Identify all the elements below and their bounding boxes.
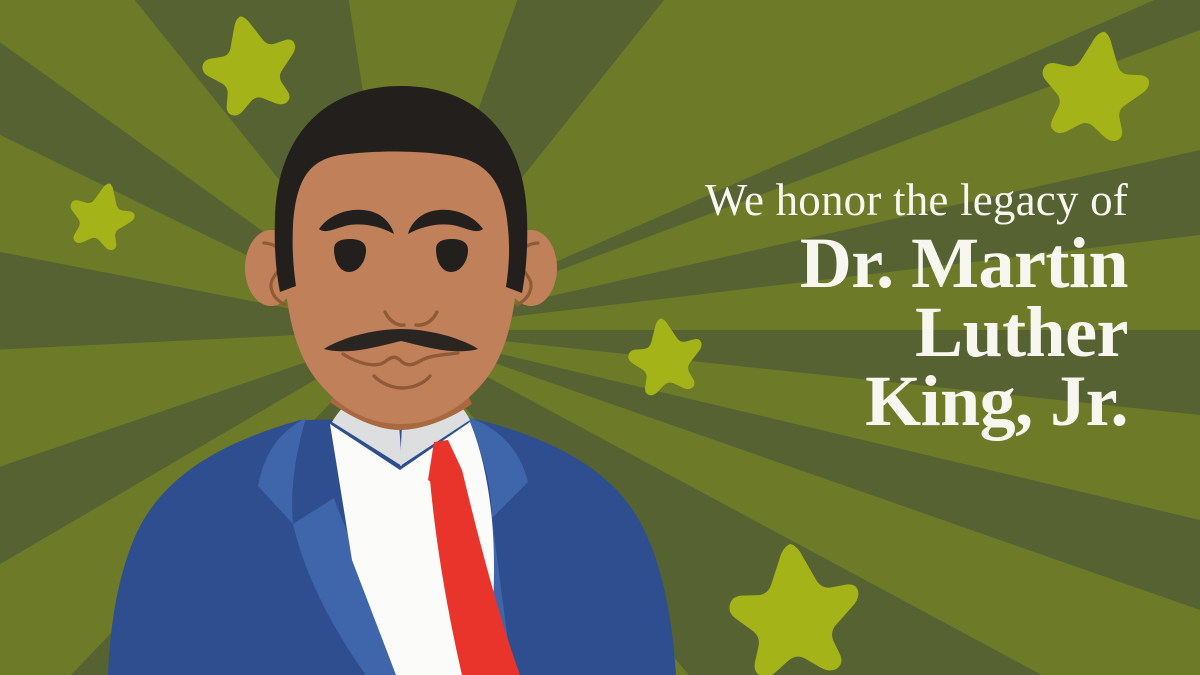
tribute-text-block: We honor the legacy of Dr. Martin Luther… [608, 178, 1128, 436]
tagline-text: We honor the legacy of [608, 178, 1128, 223]
name-line-1: Dr. Martin [608, 229, 1128, 298]
name-line-3: King, Jr. [608, 367, 1128, 436]
name-line-2: Luther [608, 298, 1128, 367]
mlk-tribute-graphic: We honor the legacy of Dr. Martin Luther… [0, 0, 1200, 675]
